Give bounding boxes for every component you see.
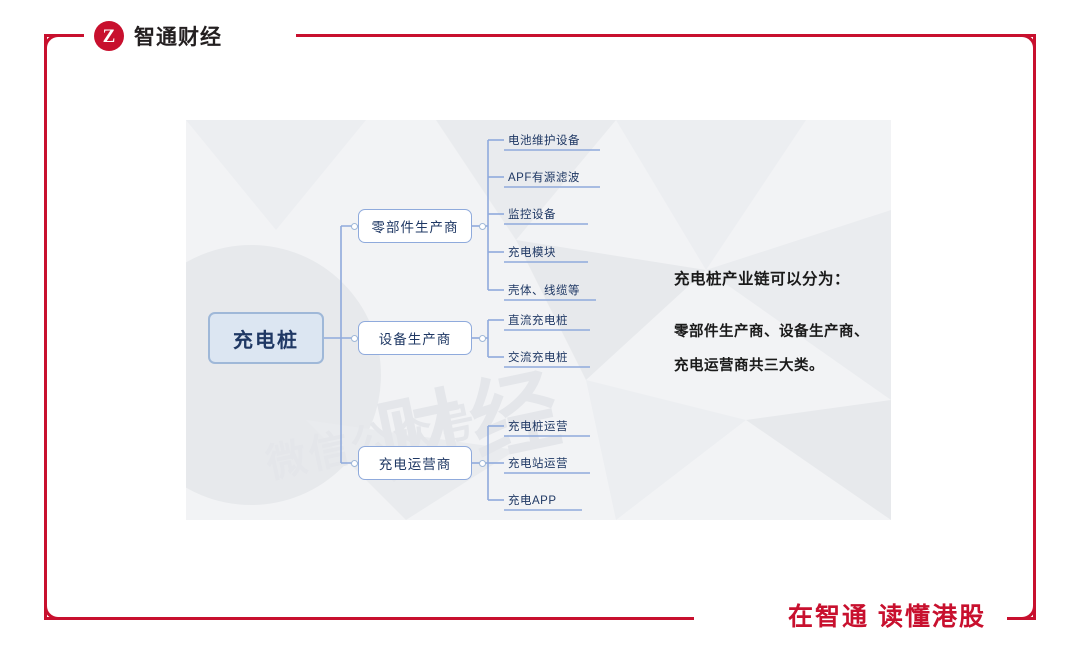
diagram-canvas: 财经 微信公众号 xyxy=(186,120,891,520)
frame-edge-right xyxy=(1033,34,1036,620)
mindmap-leaf-ac-charging-pile[interactable]: 交流充电桩 xyxy=(508,349,568,365)
mindmap-branch-charging-operator[interactable]: 充电运营商 xyxy=(358,446,472,480)
frame-corner-bottom-left xyxy=(44,591,73,620)
mindmap-leaf-battery-maintenance-equipment[interactable]: 电池维护设备 xyxy=(508,132,580,148)
connector-dot-branch-3 xyxy=(351,460,358,467)
mindmap-branch-equipment-manufacturer[interactable]: 设备生产商 xyxy=(358,321,472,355)
mindmap-leaf-station-operation[interactable]: 充电站运营 xyxy=(508,455,568,471)
frame-corner-bottom-right xyxy=(1007,591,1036,620)
footer-slogan: 在智通 读懂港股 xyxy=(780,597,994,633)
mindmap-leaf-pile-operation[interactable]: 充电桩运营 xyxy=(508,418,568,434)
brand-name: 智通财经 xyxy=(134,21,222,51)
mindmap-branch-parts-manufacturer[interactable]: 零部件生产商 xyxy=(358,209,472,243)
connector-dot-branch-1 xyxy=(351,223,358,230)
connector-dot-leaves-2 xyxy=(479,335,486,342)
mindmap-leaf-monitoring-equipment[interactable]: 监控设备 xyxy=(508,206,556,222)
mindmap-leaf-apf-active-filter[interactable]: APF有源滤波 xyxy=(508,169,580,185)
connector-dot-branch-2 xyxy=(351,335,358,342)
frame-corner-top-left xyxy=(44,34,73,63)
brand-header: Z 智通财经 xyxy=(84,16,232,56)
zhitong-logo-icon: Z xyxy=(94,21,124,51)
mindmap-leaf-charging-module[interactable]: 充电模块 xyxy=(508,244,556,260)
caption-line-2: 充电运营商共三大类。 xyxy=(674,349,884,383)
mindmap-leaf-shell-and-cable[interactable]: 壳体、线缆等 xyxy=(508,282,580,298)
caption-block: 充电桩产业链可以分为： 零部件生产商、设备生产商、 充电运营商共三大类。 xyxy=(674,267,884,383)
connector-dot-leaves-1 xyxy=(479,223,486,230)
caption-line-1: 零部件生产商、设备生产商、 xyxy=(674,315,884,349)
connector-dot-leaves-3 xyxy=(479,460,486,467)
frame-edge-left xyxy=(44,34,47,620)
mindmap-leaf-charging-app[interactable]: 充电APP xyxy=(508,492,557,508)
frame-edge-top-right xyxy=(296,34,1036,37)
caption-title: 充电桩产业链可以分为： xyxy=(674,267,884,289)
mindmap-root-node[interactable]: 充电桩 xyxy=(208,312,324,364)
frame-edge-bottom-left xyxy=(44,617,694,620)
mindmap-leaf-dc-charging-pile[interactable]: 直流充电桩 xyxy=(508,312,568,328)
frame-corner-top-right xyxy=(1007,34,1036,63)
